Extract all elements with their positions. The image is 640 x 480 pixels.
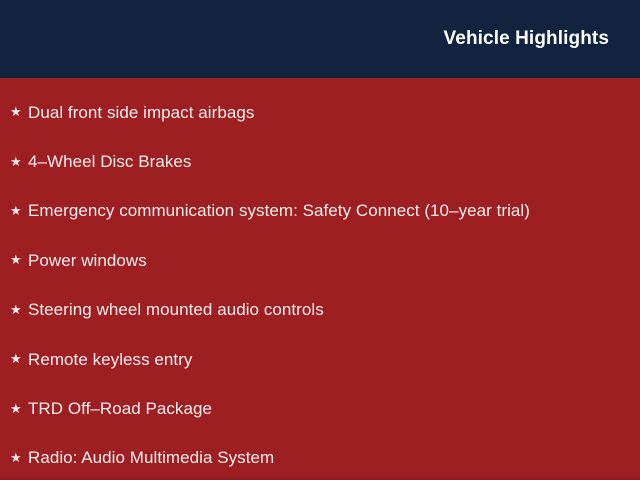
star-icon: ★	[10, 253, 28, 266]
list-item-label: Remote keyless entry	[28, 350, 640, 370]
page-title: Vehicle Highlights	[444, 28, 609, 50]
star-icon: ★	[10, 303, 28, 316]
list-item: ★ TRD Off–Road Package	[0, 384, 640, 433]
list-item: ★ Dual front side impact airbags	[0, 88, 640, 137]
list-item-label: TRD Off–Road Package	[28, 399, 640, 419]
slide-header-band: Vehicle Highlights	[0, 0, 640, 78]
list-item-label: Power windows	[28, 251, 640, 271]
list-item-label: Dual front side impact airbags	[28, 103, 640, 123]
highlights-content-area: ★ Dual front side impact airbags ★ 4–Whe…	[0, 78, 640, 480]
star-icon: ★	[10, 155, 28, 168]
list-item: ★ Emergency communication system: Safety…	[0, 187, 640, 236]
vehicle-highlights-slide: Vehicle Highlights ★ Dual front side imp…	[0, 0, 640, 480]
star-icon: ★	[10, 204, 28, 217]
list-item-label: Radio: Audio Multimedia System	[28, 448, 640, 468]
list-item-label: Emergency communication system: Safety C…	[28, 201, 640, 221]
list-item: ★ Radio: Audio Multimedia System	[0, 434, 640, 480]
star-icon: ★	[10, 402, 28, 415]
list-item-label: Steering wheel mounted audio controls	[28, 300, 640, 320]
list-item: ★ Steering wheel mounted audio controls	[0, 286, 640, 335]
list-item-label: 4–Wheel Disc Brakes	[28, 152, 640, 172]
star-icon: ★	[10, 105, 28, 118]
vehicle-highlights-list: ★ Dual front side impact airbags ★ 4–Whe…	[0, 88, 640, 480]
list-item: ★ Remote keyless entry	[0, 335, 640, 384]
list-item: ★ 4–Wheel Disc Brakes	[0, 137, 640, 186]
list-item: ★ Power windows	[0, 236, 640, 285]
star-icon: ★	[10, 451, 28, 464]
star-icon: ★	[10, 352, 28, 365]
